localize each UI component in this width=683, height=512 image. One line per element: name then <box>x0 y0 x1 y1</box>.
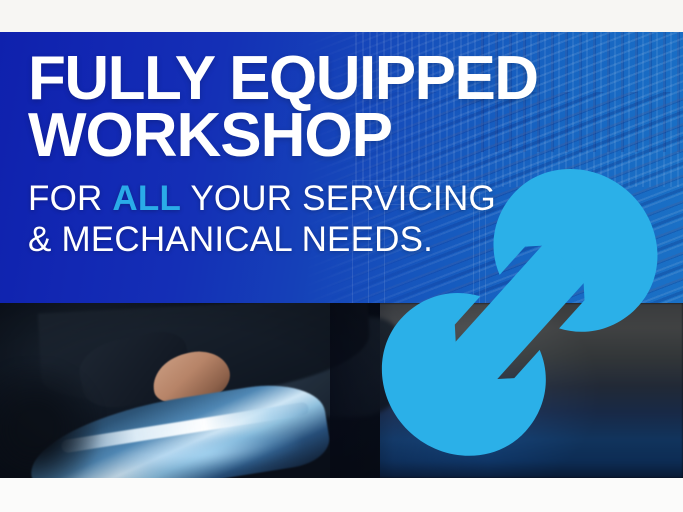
subheadline-highlight-all: ALL <box>112 179 181 218</box>
subheadline-line-1: FOR ALL YOUR SERVICING <box>28 178 668 219</box>
subheadline-line-2: & MECHANICAL NEEDS. <box>28 219 668 260</box>
workshop-photo: Mechanic's hand working on a car headlig… <box>0 303 683 478</box>
hero-text-block: FULLY EQUIPPED WORKSHOP FOR ALL YOUR SER… <box>28 50 668 261</box>
subheadline-prefix: FOR <box>28 179 112 218</box>
top-margin-band <box>0 0 683 32</box>
banner-canvas: FULLY EQUIPPED WORKSHOP FOR ALL YOUR SER… <box>0 0 683 512</box>
headline-line-2: WORKSHOP <box>28 107 668 164</box>
subheadline-suffix: YOUR SERVICING <box>181 179 496 218</box>
photo-dark-corner <box>0 363 100 478</box>
hero-banner: FULLY EQUIPPED WORKSHOP FOR ALL YOUR SER… <box>0 32 683 303</box>
bottom-margin-band <box>0 478 683 512</box>
photo-right-shading <box>330 303 683 478</box>
headline-line-1: FULLY EQUIPPED <box>28 50 668 107</box>
